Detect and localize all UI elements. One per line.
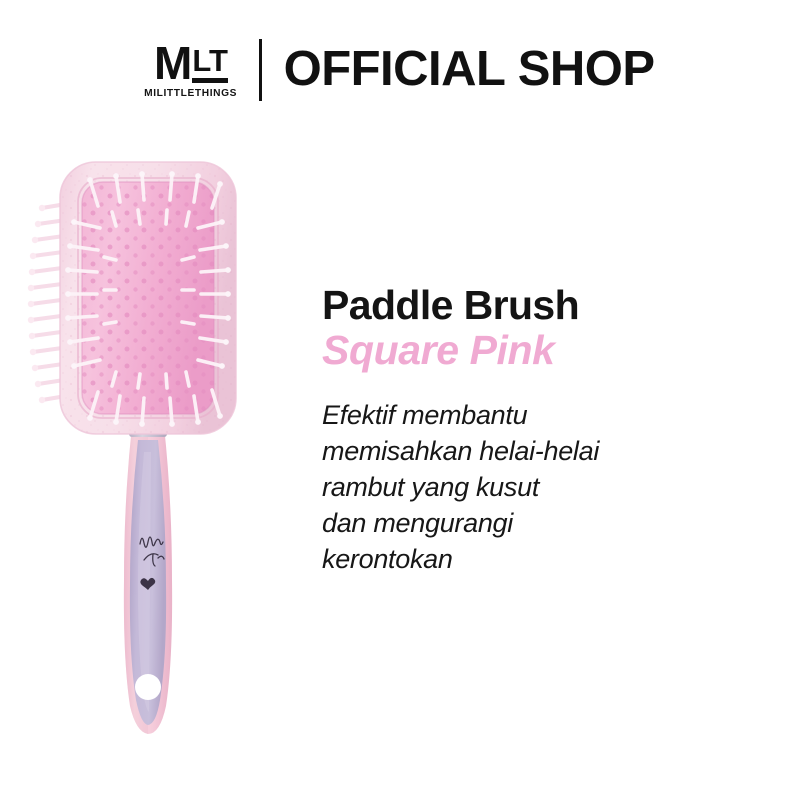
product-variant-title: Square Pink [322, 328, 722, 374]
product-copy-panel: Paddle Brush Square Pink Efektif membant… [322, 283, 722, 578]
description-line: kerontokan [322, 542, 722, 578]
brush-head [60, 162, 236, 434]
product-description: Efektif membantu memisahkan helai-helai … [322, 398, 722, 578]
mlt-logo: M LT MILITTLETHINGS [145, 41, 236, 99]
brush-handle [124, 422, 172, 734]
official-shop-title: OFFICIAL SHOP [284, 45, 655, 96]
header-divider [259, 39, 262, 101]
logo-letter-m: M [154, 45, 191, 83]
cushion-bristle-bases [82, 182, 214, 414]
description-line: rambut yang kusut [322, 470, 722, 506]
logo-letters-lt-wrap: LT [192, 45, 228, 83]
product-image-paddle-brush [20, 140, 310, 740]
description-line: memisahkan helai-helai [322, 434, 722, 470]
logo-mark: M LT [154, 45, 228, 83]
hang-hole [135, 674, 161, 700]
brand-header: M LT MILITTLETHINGS OFFICIAL SHOP [0, 28, 800, 112]
product-banner-canvas: M LT MILITTLETHINGS OFFICIAL SHOP [0, 0, 800, 800]
product-title: Paddle Brush [322, 283, 722, 327]
logo-letters-lt: LT [192, 47, 228, 75]
logo-underline-rule [192, 78, 228, 83]
description-line: Efektif membantu [322, 398, 722, 434]
logo-subtext: MILITTLETHINGS [144, 88, 237, 99]
brush-illustration [20, 140, 310, 740]
description-line: dan mengurangi [322, 506, 722, 542]
